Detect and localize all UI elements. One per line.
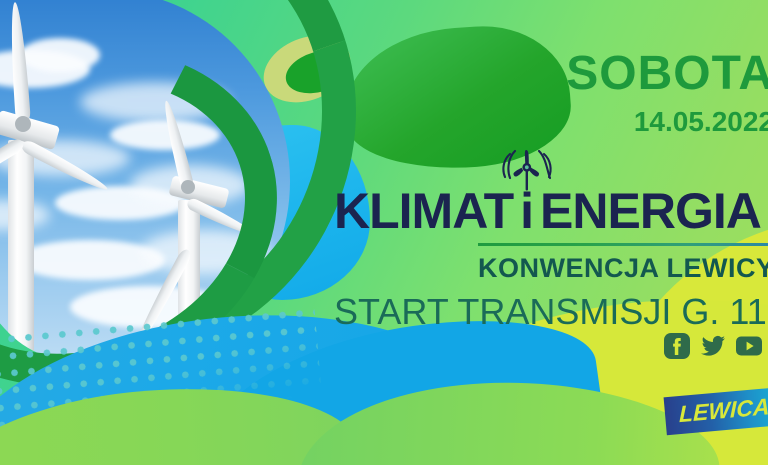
- youtube-icon[interactable]: [736, 333, 762, 359]
- headline-word-klimat: KLIMAT: [334, 186, 513, 236]
- lewica-logo-text: LEWICA: [679, 393, 768, 428]
- page-title: KLIMAT i ENERGIA: [334, 186, 761, 236]
- title-divider: [478, 243, 768, 246]
- social-links: [664, 333, 762, 359]
- facebook-icon[interactable]: [664, 333, 690, 359]
- event-date: 14.05.2022: [566, 108, 768, 136]
- campaign-banner: SOBOTA 14.05.2022 KLIMAT: [0, 0, 768, 465]
- headline-connector-wrap: i: [513, 186, 540, 236]
- event-day: SOBOTA: [566, 50, 768, 98]
- twitter-icon[interactable]: [700, 333, 726, 359]
- wind-turbine-icon: [498, 146, 556, 192]
- lewica-logo[interactable]: LEWICA: [664, 387, 768, 435]
- event-date-block: SOBOTA 14.05.2022: [566, 50, 768, 136]
- headline-word-energia: ENERGIA: [540, 186, 761, 236]
- broadcast-start-time: START TRANSMISJI G. 11:00: [334, 291, 768, 333]
- subtitle: KONWENCJA LEWICY: [478, 253, 768, 284]
